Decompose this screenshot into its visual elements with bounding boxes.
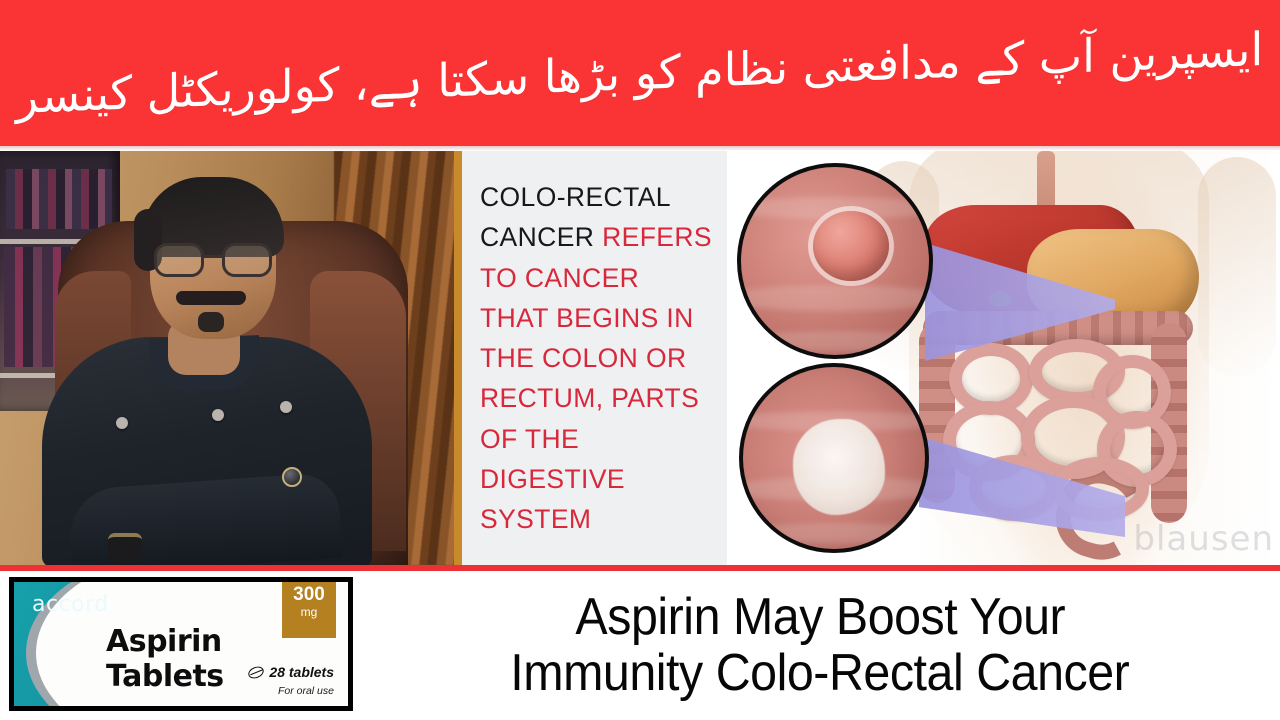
middle-band: COLO-RECTAL CANCER REFERS TO CANCER THAT… <box>0 151 1280 565</box>
headline-line-2: Immunity Colo-Rectal Cancer <box>510 646 1129 701</box>
headline-line-1: Aspirin May Boost Your <box>575 590 1065 645</box>
tumor-lesion <box>793 419 885 515</box>
pack-brand-name: accord <box>32 592 109 617</box>
glasses-lens-left <box>154 243 204 277</box>
wristwatch-icon <box>108 533 142 563</box>
medical-illustration: blausen <box>727 151 1280 565</box>
info-line-3: TO CANCER <box>480 258 713 298</box>
info-line-8: DIGESTIVE <box>480 459 713 499</box>
pack-face: accord Aspirin Tablets 300 mg 28 tablets… <box>14 582 348 706</box>
info-line-4: THAT BEGINS IN <box>480 298 713 338</box>
pack-dose-value: 300 <box>293 585 325 604</box>
bottom-headline: Aspirin May Boost Your Immunity Colo-Rec… <box>360 571 1280 720</box>
info-line-7: OF THE <box>480 419 713 459</box>
banner-inner: ایسپرین آپ کے مدافعتی نظام کو بڑھا سکتا … <box>0 0 1280 146</box>
info-line-1: COLO-RECTAL <box>480 177 713 217</box>
glasses-icon <box>154 243 272 277</box>
anatomy-shoulder-right <box>1198 157 1276 377</box>
info-line-9: SYSTEM <box>480 499 713 539</box>
image-watermark: blausen <box>1133 519 1274 559</box>
aspirin-product-pack: accord Aspirin Tablets 300 mg 28 tablets… <box>9 577 353 711</box>
ring-icon <box>282 467 302 487</box>
info-line-2-heading: CANCER <box>480 222 602 252</box>
info-text-panel: COLO-RECTAL CANCER REFERS TO CANCER THAT… <box>462 151 727 565</box>
photo-person-goatee <box>198 312 224 332</box>
glasses-bridge <box>204 255 224 258</box>
photo-jacket-button <box>116 417 128 429</box>
bottom-section: accord Aspirin Tablets 300 mg 28 tablets… <box>0 571 1280 720</box>
info-line-2: CANCER REFERS <box>480 217 713 257</box>
photo-jacket-button <box>212 409 224 421</box>
info-line-6: RECTUM, PARTS <box>480 378 713 418</box>
pack-dose-block: 300 mg <box>282 582 336 638</box>
mucosa-fold <box>737 285 933 311</box>
pack-dose-unit: mg <box>301 604 318 621</box>
pack-count-label: 28 tablets <box>269 664 334 680</box>
polyp-lesion <box>813 211 889 281</box>
photo-right-accent-edge <box>454 151 462 565</box>
endoscopy-inset-tumor <box>739 363 929 553</box>
info-line-2-body: REFERS <box>602 222 712 252</box>
endoscopy-inset-polyp <box>737 163 933 359</box>
mucosa-fold <box>739 523 929 543</box>
urdu-headline: ایسپرین آپ کے مدافعتی نظام کو بڑھا سکتا … <box>16 23 1263 124</box>
glasses-lens-right <box>222 243 272 277</box>
photo-person-mustache <box>176 291 246 305</box>
photo-jacket-button <box>280 401 292 413</box>
info-line-5: THE COLON OR <box>480 338 713 378</box>
mucosa-fold <box>737 331 933 351</box>
presenter-photo <box>0 151 462 565</box>
pack-usage-label: For oral use <box>278 685 334 697</box>
top-banner: ایسپرین آپ کے مدافعتی نظام کو بڑھا سکتا … <box>0 0 1280 146</box>
tablet-icon <box>247 664 266 680</box>
pack-tablet-count: 28 tablets <box>248 664 334 680</box>
